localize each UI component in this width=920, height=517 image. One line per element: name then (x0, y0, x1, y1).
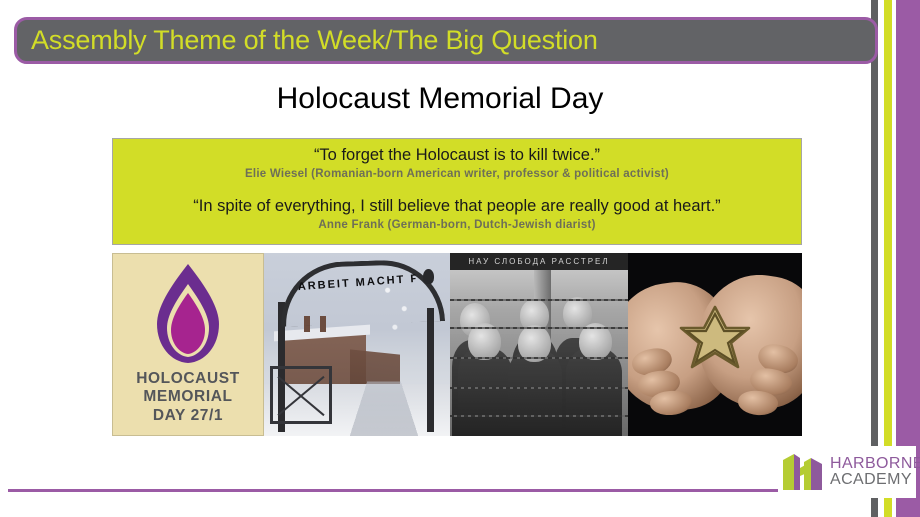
edge-stripe-purple (896, 0, 920, 517)
children-scene: НАУ СЛОБОДА РАССТРЕЛ (450, 253, 628, 436)
child-front-right (566, 348, 622, 436)
flame-icon (149, 262, 227, 365)
hands-scene (628, 253, 802, 436)
image-strip: HOLOCAUST MEMORIAL DAY 27/1 ARBEIT MACHT… (112, 253, 802, 436)
page-title: Holocaust Memorial Day (0, 82, 880, 116)
footer-divider (8, 489, 778, 492)
child-front-center (508, 350, 562, 436)
gate-fence-panel (270, 366, 332, 424)
hmd-logo-canvas: HOLOCAUST MEMORIAL DAY 27/1 (112, 253, 264, 436)
yellow-star-image (628, 253, 802, 436)
gate-scene: ARBEIT MACHT FREI (264, 253, 450, 436)
slide-title-banner: Assembly Theme of the Week/The Big Quest… (14, 17, 878, 64)
harborne-h-icon (780, 450, 824, 494)
hmd-logo-text: HOLOCAUST MEMORIAL DAY 27/1 (136, 370, 240, 425)
cyrillic-banner: НАУ СЛОБОДА РАССТРЕЛ (450, 253, 628, 270)
quote-text-2: “In spite of everything, I still believe… (113, 196, 801, 217)
school-logo: HARBORNE ACADEMY (780, 446, 916, 498)
child-front-left (458, 348, 512, 436)
finger-left-3 (649, 390, 693, 417)
hmd-line-1: HOLOCAUST (136, 370, 240, 388)
auschwitz-gate-image: ARBEIT MACHT FREI (264, 253, 450, 436)
barbed-wire-3 (450, 357, 628, 359)
hmd-line-2: MEMORIAL (136, 388, 240, 406)
quotes-box: “To forget the Holocaust is to kill twic… (112, 138, 802, 245)
barbed-wire-1 (450, 299, 628, 301)
star-of-david-badge (678, 304, 752, 374)
barbed-wire-2 (450, 327, 628, 329)
school-name-line-1: HARBORNE (830, 456, 920, 472)
school-logo-wordmark: HARBORNE ACADEMY (830, 456, 920, 489)
quote-spacer (113, 183, 801, 196)
quote-attribution-1: Elie Wiesel (Romanian-born American writ… (113, 167, 801, 183)
edge-stripe-gray (871, 0, 878, 517)
hmd-line-3: DAY 27/1 (136, 407, 240, 425)
gate-lamp (423, 269, 434, 284)
quote-attribution-2: Anne Frank (German-born, Dutch-Jewish di… (113, 218, 801, 234)
edge-stripe-green (884, 0, 892, 517)
slide-title-text: Assembly Theme of the Week/The Big Quest… (17, 27, 598, 54)
hmd-logo-image: HOLOCAUST MEMORIAL DAY 27/1 (112, 253, 264, 436)
quote-text-1: “To forget the Holocaust is to kill twic… (113, 145, 801, 166)
barbed-wire-4 (450, 387, 628, 389)
school-name-line-2: ACADEMY (830, 472, 920, 488)
barbed-wire-5 (450, 415, 628, 417)
gate-post-right (427, 308, 434, 432)
child-survivors-image: НАУ СЛОБОДА РАССТРЕЛ (450, 253, 628, 436)
